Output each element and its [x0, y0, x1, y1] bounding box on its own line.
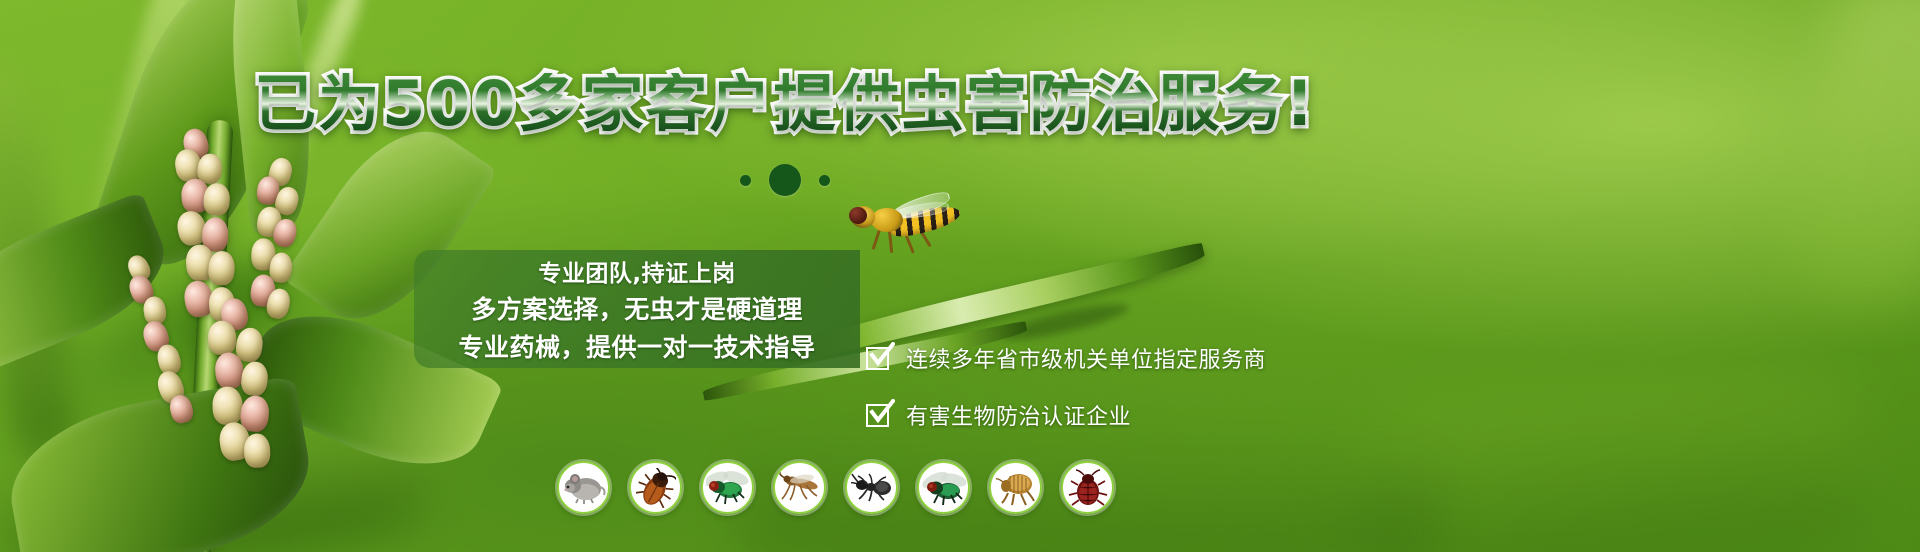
dot-large-icon: [769, 164, 801, 196]
pest-icon-row: [557, 461, 1114, 514]
pest-circle-mosquito[interactable]: [773, 461, 826, 514]
decorative-dot-row: [0, 164, 1570, 196]
slogan-line-1: 专业团队,持证上岗: [538, 254, 735, 288]
dot-small-icon: [819, 175, 830, 186]
credentials-checklist: 连续多年省市级机关单位指定服务商 有害生物防治认证企业: [866, 342, 1266, 431]
checklist-item: 有害生物防治认证企业: [866, 399, 1266, 431]
checklist-item-label: 有害生物防治认证企业: [906, 399, 1131, 431]
promotional-banner: 已为500多家客户提供虫害防治服务! 已为500多家客户提供虫害防治服务! 专业…: [0, 0, 1920, 552]
slogan-line-3: 专业药械，提供一对一技术指导: [458, 328, 815, 364]
headline-text: 已为500多家客户提供虫害防治服务!: [254, 73, 1316, 135]
slogan-panel: 专业团队,持证上岗 多方案选择，无虫才是硬道理 专业药械，提供一对一技术指导: [414, 250, 860, 368]
dot-small-icon: [740, 175, 751, 186]
checklist-item-label: 连续多年省市级机关单位指定服务商: [906, 342, 1266, 374]
slogan-line-2: 多方案选择，无虫才是硬道理: [471, 290, 803, 326]
pest-circle-ant[interactable]: [845, 461, 898, 514]
checkbox-checked-icon: [866, 402, 892, 428]
hoverfly-insect-icon: [845, 196, 965, 258]
checkbox-checked-icon: [866, 345, 892, 371]
headline: 已为500多家客户提供虫害防治服务!: [0, 73, 1570, 135]
checklist-item: 连续多年省市级机关单位指定服务商: [866, 342, 1266, 374]
pest-circle-cockroach[interactable]: [629, 461, 682, 514]
pest-circle-housefly[interactable]: [917, 461, 970, 514]
pest-circle-flea[interactable]: [989, 461, 1042, 514]
pest-circle-greenfly[interactable]: [701, 461, 754, 514]
pest-circle-bedbug[interactable]: [1061, 461, 1114, 514]
flower-bud-spike: [207, 299, 283, 481]
pest-circle-mouse[interactable]: [557, 461, 610, 514]
